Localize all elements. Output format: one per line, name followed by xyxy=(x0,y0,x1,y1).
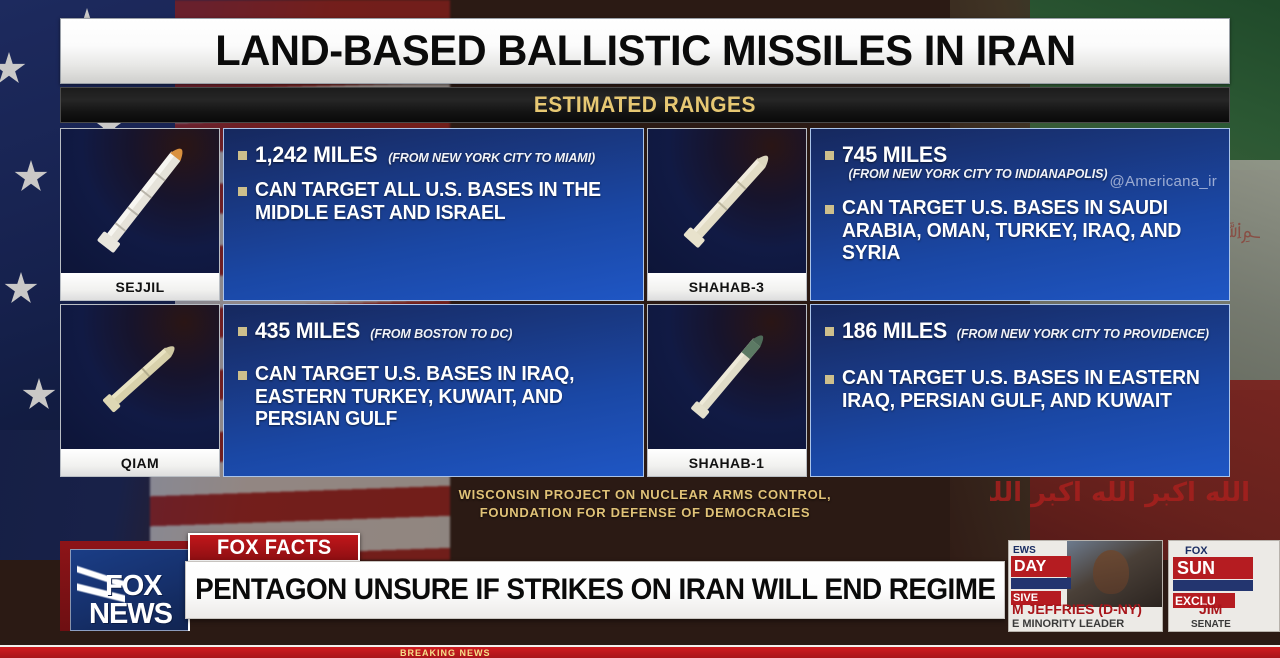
missile-info: 435 MILES (FROM BOSTON TO DC) CAN TARGET… xyxy=(223,304,644,477)
range-bullet-row: 745 MILES (FROM NEW YORK CITY TO INDIANA… xyxy=(825,143,1216,181)
missile-panel: SHAHAB-3 745 MILES (FROM NEW YORK CITY T… xyxy=(647,128,1231,301)
missile-range-comparison: (FROM BOSTON TO DC) xyxy=(370,327,512,341)
missile-range: 1,242 MILES xyxy=(255,143,377,167)
flag-star-icon xyxy=(14,160,48,194)
missile-photo xyxy=(648,305,806,449)
missile-icon-sejjil xyxy=(61,129,219,271)
bullet-square-icon xyxy=(238,187,247,196)
missile-range: 435 MILES xyxy=(255,319,360,343)
promo-right-guest-role: SENATE xyxy=(1191,619,1231,630)
bullet-square-icon xyxy=(825,375,834,384)
missile-thumbnail: SHAHAB-3 xyxy=(647,128,807,301)
fox-news-logo: FOX NEWS xyxy=(60,541,190,631)
bullet-square-icon xyxy=(238,151,247,160)
fox-facts-badge: FOX FACTS xyxy=(188,533,360,562)
range-bullet-row: 435 MILES (FROM BOSTON TO DC) xyxy=(238,319,629,343)
missile-targets: CAN TARGET U.S. BASES IN IRAQ, EASTERN T… xyxy=(255,363,617,431)
bullet-square-icon xyxy=(238,327,247,336)
fox-news-logo-inner: FOX NEWS xyxy=(70,549,190,631)
missile-photo xyxy=(61,129,219,273)
bullet-square-icon xyxy=(825,151,834,160)
missile-info: 745 MILES (FROM NEW YORK CITY TO INDIANA… xyxy=(810,128,1231,301)
graphic-title-bar: LAND-BASED BALLISTIC MISSILES IN IRAN xyxy=(60,18,1230,84)
targets-bullet-row: CAN TARGET U.S. BASES IN IRAQ, EASTERN T… xyxy=(238,363,629,431)
fox-facts-badge-label: FOX FACTS xyxy=(217,536,332,560)
missile-icon-shahab1 xyxy=(648,305,806,447)
missile-range: 745 MILES xyxy=(842,143,947,167)
missile-range-comparison: (FROM NEW YORK CITY TO INDIANAPOLIS) xyxy=(849,167,1108,181)
missile-thumbnail: SEJJIL xyxy=(60,128,220,301)
promo-left-photo xyxy=(1067,541,1162,607)
missile-name-label: SHAHAB-3 xyxy=(648,273,806,300)
headline-text: PENTAGON UNSURE IF STRIKES ON IRAN WILL … xyxy=(195,573,995,607)
missile-range-comparison: (FROM NEW YORK CITY TO PROVIDENCE) xyxy=(957,327,1209,341)
missile-ranges-graphic: LAND-BASED BALLISTIC MISSILES IN IRAN ES… xyxy=(60,18,1230,521)
promo-left-tag-main: DAY xyxy=(1011,556,1071,577)
bullet-square-icon xyxy=(825,205,834,214)
promo-right-tag-top: FOX xyxy=(1185,545,1208,557)
flag-star-icon xyxy=(4,272,38,306)
missile-info: 1,242 MILES (FROM NEW YORK CITY TO MIAMI… xyxy=(223,128,644,301)
targets-bullet-row: CAN TARGET ALL U.S. BASES IN THE MIDDLE … xyxy=(238,179,629,225)
source-attribution: WISCONSIN PROJECT ON NUCLEAR ARMS CONTRO… xyxy=(60,486,1230,521)
graphic-subtitle: ESTIMATED RANGES xyxy=(534,92,756,118)
news-ticker-text: BREAKING NEWS xyxy=(400,648,491,658)
missile-name-label: QIAM xyxy=(61,449,219,476)
missile-panel: SEJJIL 1,242 MILES (FROM NEW YORK CITY T… xyxy=(60,128,644,301)
source-line-1: WISCONSIN PROJECT ON NUCLEAR ARMS CONTRO… xyxy=(60,486,1230,504)
promo-card-left[interactable]: EWS DAY SIVE M JEFFRIES (D-NY) E MINORIT… xyxy=(1008,540,1163,632)
promo-left-guest-name: M JEFFRIES (D-NY) xyxy=(1012,601,1142,617)
headline-bar: PENTAGON UNSURE IF STRIKES ON IRAN WILL … xyxy=(185,561,1005,619)
targets-bullet-row: CAN TARGET U.S. BASES IN SAUDI ARABIA, O… xyxy=(825,197,1216,265)
promo-left-tag-top: EWS xyxy=(1013,545,1036,556)
fox-logo-text-news: NEWS xyxy=(89,598,172,631)
promo-right-tag-main: SUN xyxy=(1173,557,1253,579)
missile-panel-grid: SEJJIL 1,242 MILES (FROM NEW YORK CITY T… xyxy=(60,128,1230,477)
missile-photo xyxy=(61,305,219,449)
promo-left-avatar xyxy=(1093,550,1129,594)
missile-range-comparison: (FROM NEW YORK CITY TO MIAMI) xyxy=(388,151,595,165)
lower-third: FOX NEWS FOX FACTS PENTAGON UNSURE IF ST… xyxy=(0,528,1280,658)
missile-panel: SHAHAB-1 186 MILES (FROM NEW YORK CITY T… xyxy=(647,304,1231,477)
missile-info: 186 MILES (FROM NEW YORK CITY TO PROVIDE… xyxy=(810,304,1231,477)
missile-thumbnail: SHAHAB-1 xyxy=(647,304,807,477)
promo-card-right[interactable]: FOX SUN EXCLU JIM SENATE xyxy=(1168,540,1280,632)
range-bullet-row: 186 MILES (FROM NEW YORK CITY TO PROVIDE… xyxy=(825,319,1216,343)
news-ticker-bar: BREAKING NEWS xyxy=(0,645,1280,658)
missile-panel: QIAM 435 MILES (FROM BOSTON TO DC) CAN T… xyxy=(60,304,644,477)
missile-name-label: SEJJIL xyxy=(61,273,219,300)
page-title: LAND-BASED BALLISTIC MISSILES IN IRAN xyxy=(215,27,1075,76)
missile-targets: CAN TARGET ALL U.S. BASES IN THE MIDDLE … xyxy=(255,179,617,225)
promo-right-guest-name: JIM xyxy=(1199,601,1222,617)
flag-star-icon xyxy=(0,52,26,86)
missile-thumbnail: QIAM xyxy=(60,304,220,477)
promo-right-stars-bar xyxy=(1173,580,1253,591)
missile-range: 186 MILES xyxy=(842,319,947,343)
source-line-2: FOUNDATION FOR DEFENSE OF DEMOCRACIES xyxy=(60,504,1230,522)
graphic-subtitle-bar: ESTIMATED RANGES xyxy=(60,87,1230,123)
missile-targets: CAN TARGET U.S. BASES IN EASTERN IRAQ, P… xyxy=(842,367,1204,413)
missile-photo xyxy=(648,129,806,273)
promo-left-guest-role: E MINORITY LEADER xyxy=(1012,618,1124,630)
bullet-square-icon xyxy=(238,371,247,380)
flag-star-icon xyxy=(22,378,56,412)
promo-left-stars-bar xyxy=(1011,578,1071,589)
missile-name-label: SHAHAB-1 xyxy=(648,449,806,476)
bullet-square-icon xyxy=(825,327,834,336)
missile-icon-shahab3 xyxy=(648,129,806,271)
range-bullet-row: 1,242 MILES (FROM NEW YORK CITY TO MIAMI… xyxy=(238,143,629,167)
missile-icon-qiam xyxy=(61,305,219,447)
targets-bullet-row: CAN TARGET U.S. BASES IN EASTERN IRAQ, P… xyxy=(825,367,1216,413)
missile-targets: CAN TARGET U.S. BASES IN SAUDI ARABIA, O… xyxy=(842,197,1204,265)
